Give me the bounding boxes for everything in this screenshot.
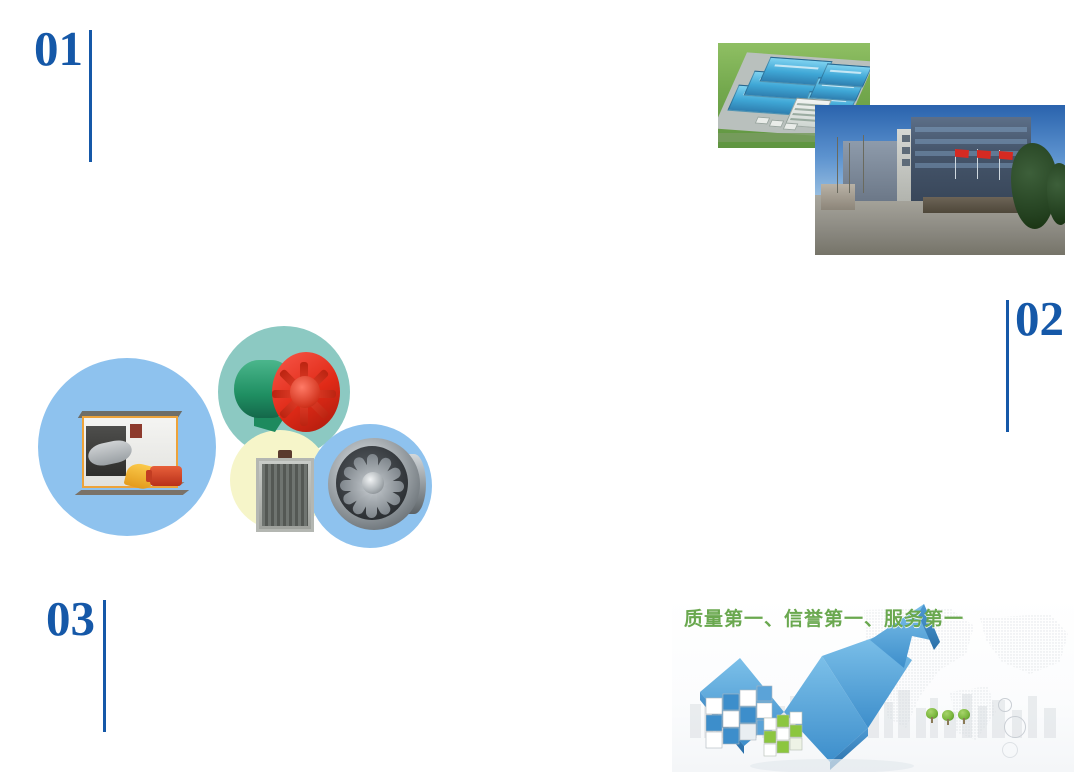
bare-tree [837,137,838,193]
section-number-03: 03 [46,596,95,643]
bare-tree [863,135,864,193]
bare-tree [849,143,850,193]
fan-hub [290,376,320,408]
slogan-text: 质量第一、信誉第一、服务第一 [684,604,964,631]
fan-hub [362,472,384,494]
page-root: 01 [0,0,1074,772]
fire-damper-unit [252,448,318,534]
red-flag [977,150,991,159]
quality-slogan-banner: 质量第一、信誉第一、服务第一 [672,596,1074,772]
metallic-axial-duct-fan [324,436,428,534]
cabinet-centrifugal-fan-unit [64,408,188,504]
section-divider-rule-01 [89,30,92,162]
warehouse-building [818,63,870,87]
electric-motor [150,466,182,486]
green-cube-cluster-icon [760,702,816,758]
tree-icon [942,710,954,724]
fan-product-collage [36,326,426,551]
section-number-01: 01 [34,26,83,73]
support-rail [75,490,189,495]
perimeter-wall [923,197,1019,213]
section-marker-03: 03 [46,596,106,732]
decorative-ring [1004,716,1026,738]
red-flag [955,149,969,158]
section-number-02: 02 [1015,296,1064,343]
red-flag [999,151,1013,160]
section-divider-rule-02 [1006,300,1009,432]
decorative-ring [1002,742,1018,758]
section-marker-02: 02 [1006,296,1064,432]
tree-icon [926,708,938,722]
office-building-photo [815,105,1065,255]
section-marker-01: 01 [34,26,92,162]
green-red-axial-flow-fan [232,350,342,442]
tree-icon [958,709,970,723]
decorative-ring [998,698,1012,712]
section-divider-rule-03 [103,600,106,732]
damper-blades [262,464,308,526]
control-panel [130,424,142,438]
